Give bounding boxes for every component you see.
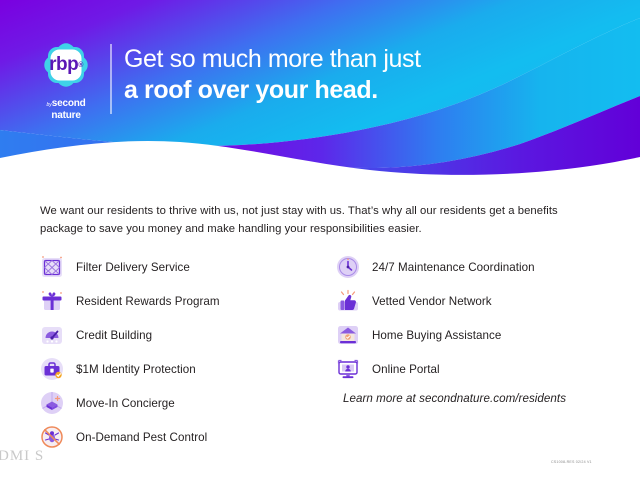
gift-icon (38, 287, 66, 315)
clock-icon (334, 253, 362, 281)
benefits-column-right: 24/7 Maintenance Coordination Vetted Ven… (334, 250, 624, 386)
benefit-label: Credit Building (76, 329, 152, 342)
benefits-column-left: Filter Delivery Service Resident Rewards… (38, 250, 328, 454)
benefit-item: Online Portal (334, 352, 624, 386)
page-title: Get so much more than just a roof over y… (124, 44, 421, 106)
headline-line-2: a roof over your head. (124, 75, 421, 106)
benefit-item: Home Buying Assistance (334, 318, 624, 352)
intro-paragraph: We want our residents to thrive with us,… (40, 203, 592, 238)
benefit-item: Resident Rewards Program (38, 284, 328, 318)
learn-more-text: Learn more at secondnature.com/residents (343, 392, 566, 405)
air-filter-icon (38, 253, 66, 281)
no-pest-icon (38, 423, 66, 451)
benefit-label: Vetted Vendor Network (372, 295, 492, 308)
moving-box-icon (38, 389, 66, 417)
document-code: CS1008-RES 02/24 V1 (551, 460, 592, 464)
header-banner: rbp® bysecond nature Get so much more th… (0, 0, 640, 186)
rbp-logo: rbp® bysecond nature (32, 38, 100, 116)
monitor-icon (334, 355, 362, 383)
benefit-label: On-Demand Pest Control (76, 431, 207, 444)
logo-company-line2: nature (32, 111, 100, 122)
benefit-item: On-Demand Pest Control (38, 420, 328, 454)
benefit-label: Home Buying Assistance (372, 329, 501, 342)
benefit-item: Vetted Vendor Network (334, 284, 624, 318)
logo-wordmark-text: rbp (49, 54, 78, 76)
house-icon (334, 321, 362, 349)
benefit-label: Online Portal (372, 363, 440, 376)
watermark-text: DMI S (0, 448, 44, 465)
logo-subtitle: bysecond nature (32, 94, 100, 121)
benefit-label: Filter Delivery Service (76, 261, 190, 274)
benefit-label: $1M Identity Protection (76, 363, 196, 376)
benefit-item: Filter Delivery Service (38, 250, 328, 284)
benefit-item: Move-In Concierge (38, 386, 328, 420)
briefcase-shield-icon (38, 355, 66, 383)
benefit-item: 24/7 Maintenance Coordination (334, 250, 624, 284)
thumbs-up-icon (334, 287, 362, 315)
credit-gauge-icon (38, 321, 66, 349)
logo-company-line1: second (52, 98, 86, 109)
headline-line-1: Get so much more than just (124, 44, 421, 75)
logo-wordmark: rbp® (39, 38, 93, 92)
benefit-label: Resident Rewards Program (76, 295, 220, 308)
header-divider (110, 44, 112, 114)
logo-trademark: ® (78, 62, 83, 69)
logo-mark: rbp® (39, 38, 93, 92)
benefit-item: Credit Building (38, 318, 328, 352)
benefit-label: 24/7 Maintenance Coordination (372, 261, 535, 274)
benefit-item: $1M Identity Protection (38, 352, 328, 386)
benefit-label: Move-In Concierge (76, 397, 175, 410)
